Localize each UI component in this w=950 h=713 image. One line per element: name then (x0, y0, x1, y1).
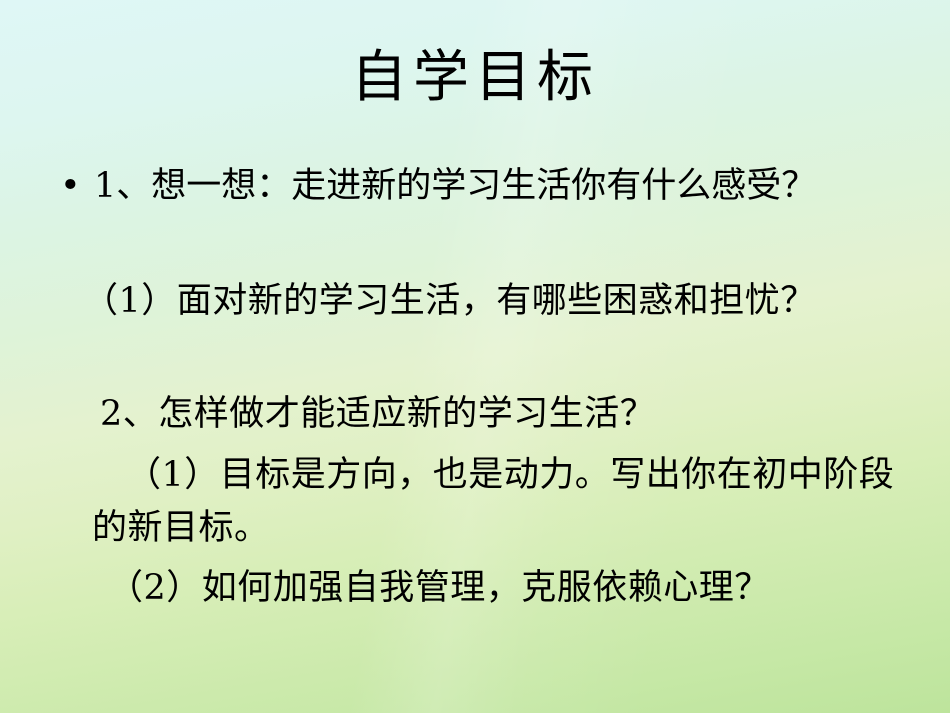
bullet-list-item-1: • 1、想一想：走进新的学习生活你有什么感受？ (60, 160, 926, 213)
bullet-dot-icon: • (60, 160, 94, 213)
body-paragraph-item-2: 2、怎样做才能适应新的学习生活？ (100, 388, 900, 441)
body-paragraph-item-2-sub-1: （1）目标是方向，也是动力。写出你在初中阶段的新目标。 (92, 449, 907, 555)
body-paragraph-item-2-sub-2: （2）如何加强自我管理，克服依赖心理？ (108, 562, 908, 615)
presentation-slide: 自学目标 • 1、想一想：走进新的学习生活你有什么感受？ （1）面对新的学习生活… (0, 0, 950, 713)
bullet-item-1-text: 1、想一想：走进新的学习生活你有什么感受？ (94, 160, 926, 213)
slide-content: 自学目标 • 1、想一想：走进新的学习生活你有什么感受？ （1）面对新的学习生活… (0, 0, 950, 713)
body-paragraph-item-1-sub-1: （1）面对新的学习生活，有哪些困惑和担忧？ (83, 275, 893, 328)
slide-title: 自学目标 (0, 48, 950, 108)
